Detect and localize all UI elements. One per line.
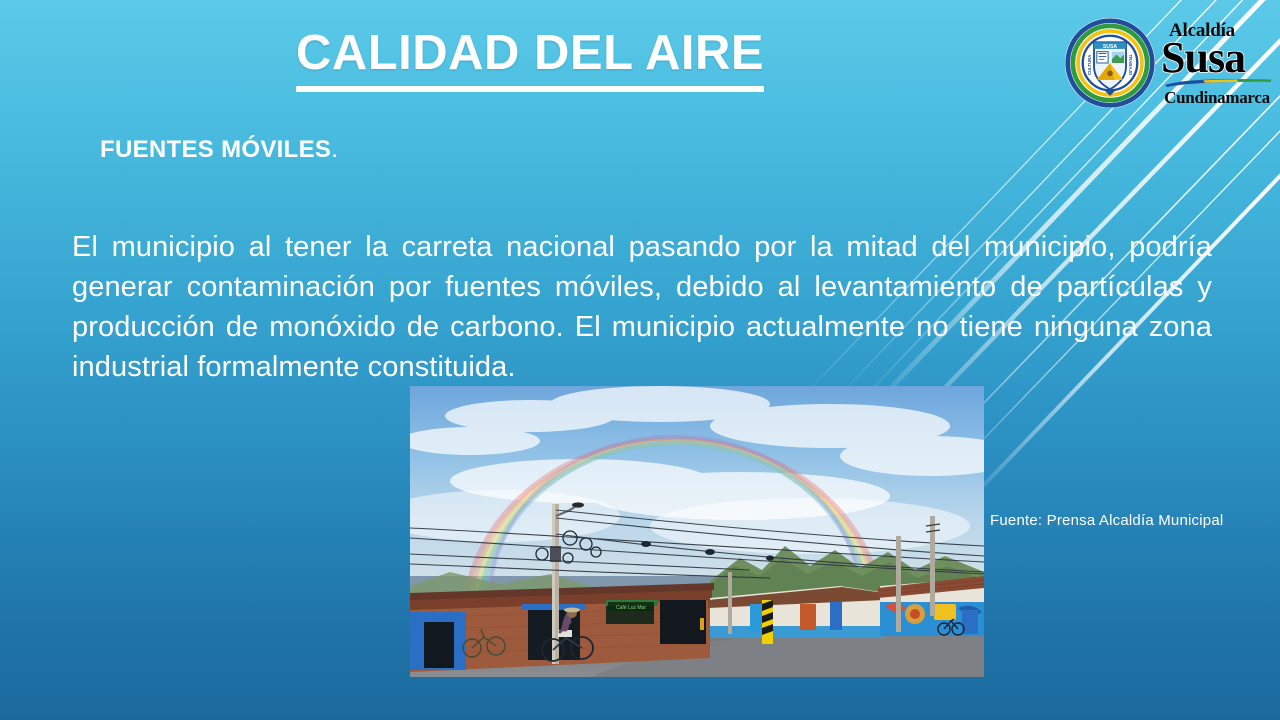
page-title-text: CALIDAD DEL AIRE (296, 26, 764, 80)
body-paragraph: El municipio al tener la carreta naciona… (72, 227, 1212, 387)
svg-text:CULTURA: CULTURA (1087, 55, 1092, 76)
slide-canvas: CALIDAD DEL AIRE SUSA CULTURA TRABAJO (0, 0, 1280, 720)
street-photograph: Café Luz Mar (410, 386, 984, 677)
photo-caption: Fuente: Prensa Alcaldía Municipal (990, 512, 1223, 529)
section-subtitle-period: . (331, 136, 338, 163)
logo-swoosh-icon (1163, 78, 1273, 88)
street-photograph-image: Café Luz Mar (410, 386, 984, 677)
page-title: CALIDAD DEL AIRE (296, 28, 764, 92)
logo-susa-text: Susa (1161, 32, 1245, 83)
municipal-crest-icon: SUSA CULTURA TRABAJO (1063, 16, 1157, 110)
svg-text:SUSA: SUSA (1103, 44, 1118, 50)
alcaldia-susa-logo: SUSA CULTURA TRABAJO Alcaldía Susa Cundi… (1063, 14, 1275, 114)
section-subtitle: FUENTES MÓVILES. (100, 136, 338, 164)
page-title-container: CALIDAD DEL AIRE (0, 28, 1060, 92)
svg-text:Café Luz Mar: Café Luz Mar (616, 605, 646, 611)
page-title-underline (296, 86, 764, 92)
section-subtitle-text: FUENTES MÓVILES (100, 136, 331, 163)
logo-wordmark: Alcaldía Susa Cundinamarca (1159, 14, 1275, 114)
logo-cundinamarca-text: Cundinamarca (1159, 88, 1275, 108)
svg-text:TRABAJO: TRABAJO (1128, 54, 1133, 75)
